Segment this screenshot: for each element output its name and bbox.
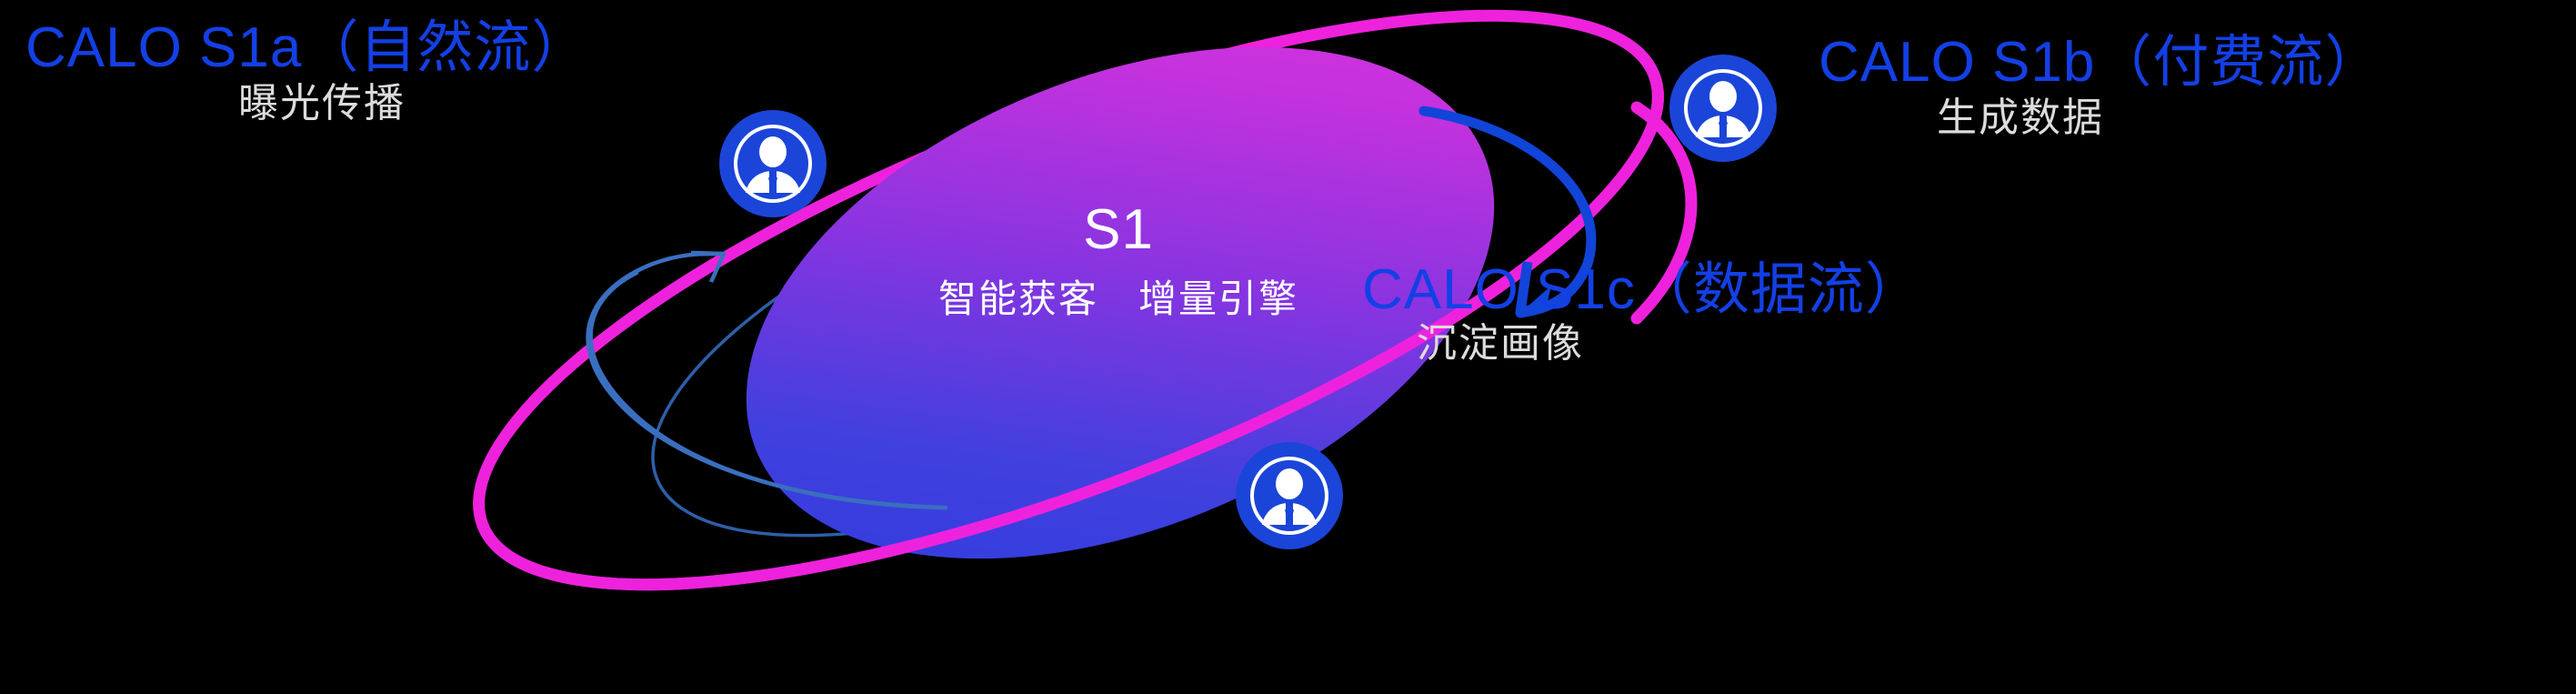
node-label-s1a-sub: 曝光传播 bbox=[238, 84, 406, 124]
node-label-s1b-sub: 生成数据 bbox=[1937, 98, 2104, 138]
node-s1c[interactable] bbox=[1236, 442, 1343, 549]
node-s1b[interactable] bbox=[1669, 55, 1777, 162]
diagram-canvas: S1 智能获客 增量引擎 CALO S1a（自然流） 曝光传播 CALO S1b… bbox=[0, 0, 2576, 694]
node-label-s1c-title[interactable]: CALO S1c（数据流） bbox=[1362, 262, 1922, 318]
node-s1a[interactable] bbox=[719, 110, 827, 217]
core-title: S1 bbox=[964, 202, 1273, 258]
node-label-s1b-title[interactable]: CALO S1b（付费流） bbox=[1819, 35, 2381, 91]
core-subtitle: 智能获客 增量引擎 bbox=[827, 280, 1409, 318]
node-label-s1c-sub: 沉淀画像 bbox=[1417, 324, 1584, 364]
node-label-s1a-title[interactable]: CALO S1a（自然流） bbox=[25, 20, 588, 76]
